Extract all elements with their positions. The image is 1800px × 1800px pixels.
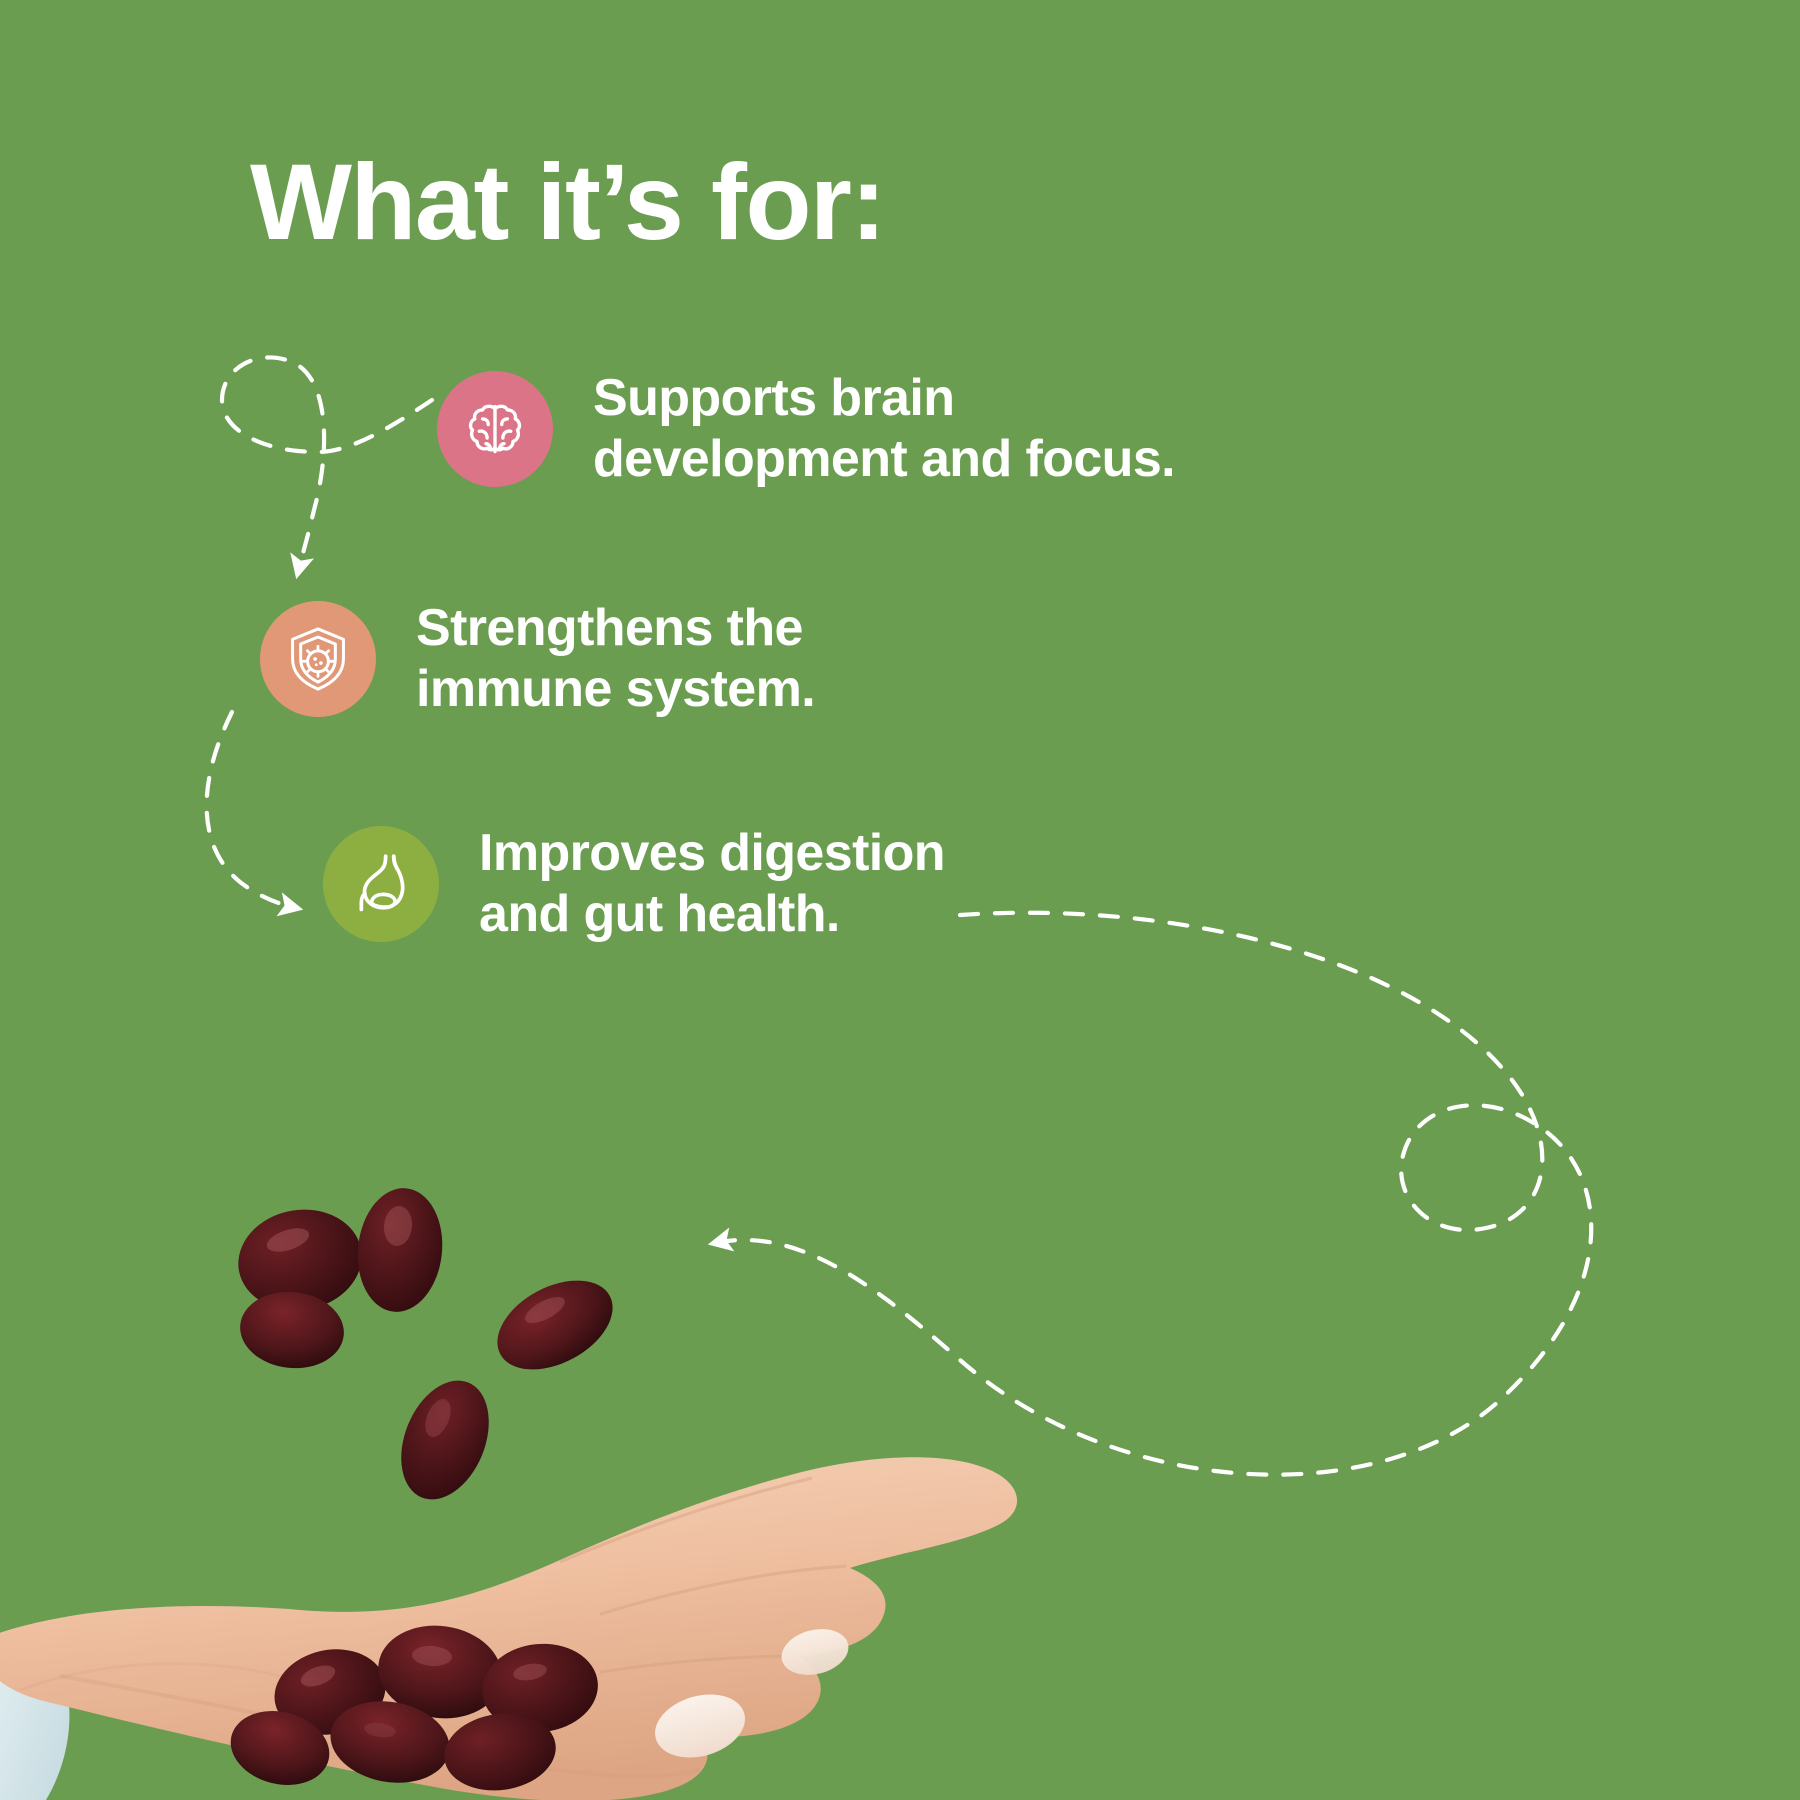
benefit-label: Strengthens the immune system. — [416, 598, 815, 721]
hand-holding-gummies-photo — [0, 1000, 1050, 1800]
benefit-item-digestion: Improves digestion and gut health. — [323, 823, 945, 946]
benefit-icon-circle — [260, 601, 376, 717]
benefit-item-brain: Supports brain development and focus. — [437, 368, 1175, 491]
loop-arrow-brain-to-shield — [222, 357, 432, 572]
benefit-item-immune: Strengthens the immune system. — [260, 598, 815, 721]
poster-canvas: What it’s for: Supports brain developmen… — [0, 0, 1800, 1800]
curve-arrow-shield-to-stomach — [207, 712, 296, 908]
benefit-icon-circle — [437, 371, 553, 487]
stomach-icon — [344, 847, 418, 921]
benefit-label: Improves digestion and gut health. — [479, 823, 945, 946]
brain-icon — [459, 393, 531, 465]
page-title: What it’s for: — [250, 148, 885, 256]
benefit-icon-circle — [323, 826, 439, 942]
benefit-label: Supports brain development and focus. — [593, 368, 1175, 491]
shield-virus-icon — [281, 622, 355, 696]
gummy-falling — [230, 1184, 627, 1513]
